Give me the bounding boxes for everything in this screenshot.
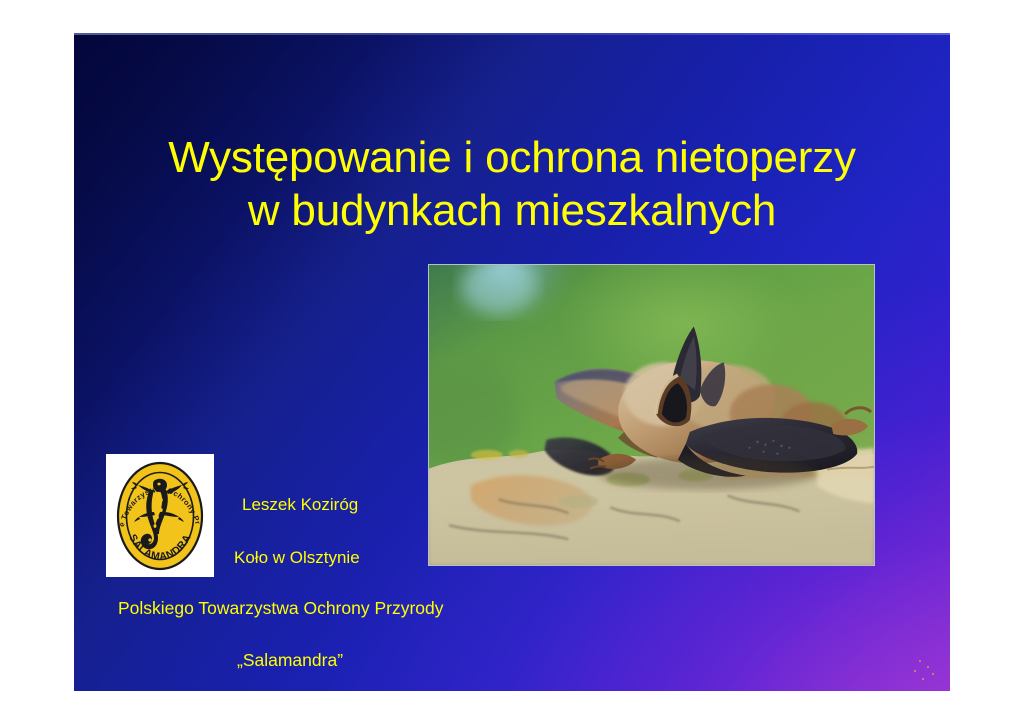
- credit-author: Leszek Koziróg: [242, 494, 358, 515]
- artifact-dot: [922, 678, 924, 680]
- credit-organization-name: „Salamandra”: [237, 650, 343, 671]
- presentation-slide: Występowanie i ochrona nietoperzy w budy…: [74, 33, 950, 691]
- credit-organization: Polskiego Towarzystwa Ochrony Przyrody: [118, 598, 444, 619]
- artifact-dot: [927, 666, 929, 668]
- salamandra-logo: Polskie Towarzystwo Ochrony Przyrody SAL…: [106, 454, 214, 577]
- long-eared-bat-photo: [428, 264, 875, 566]
- slide-top-edge: [74, 33, 950, 35]
- salamandra-logo-artwork: Polskie Towarzystwo Ochrony Przyrody SAL…: [106, 454, 214, 577]
- artifact-dot: [914, 670, 916, 672]
- bat-photo-artwork: [429, 265, 874, 565]
- slide-title: Występowanie i ochrona nietoperzy w budy…: [74, 131, 950, 237]
- artifact-dot: [932, 673, 934, 675]
- artifact-dot: [919, 660, 921, 662]
- page-canvas: Występowanie i ochrona nietoperzy w budy…: [0, 0, 1024, 724]
- credit-branch: Koło w Olsztynie: [234, 547, 360, 568]
